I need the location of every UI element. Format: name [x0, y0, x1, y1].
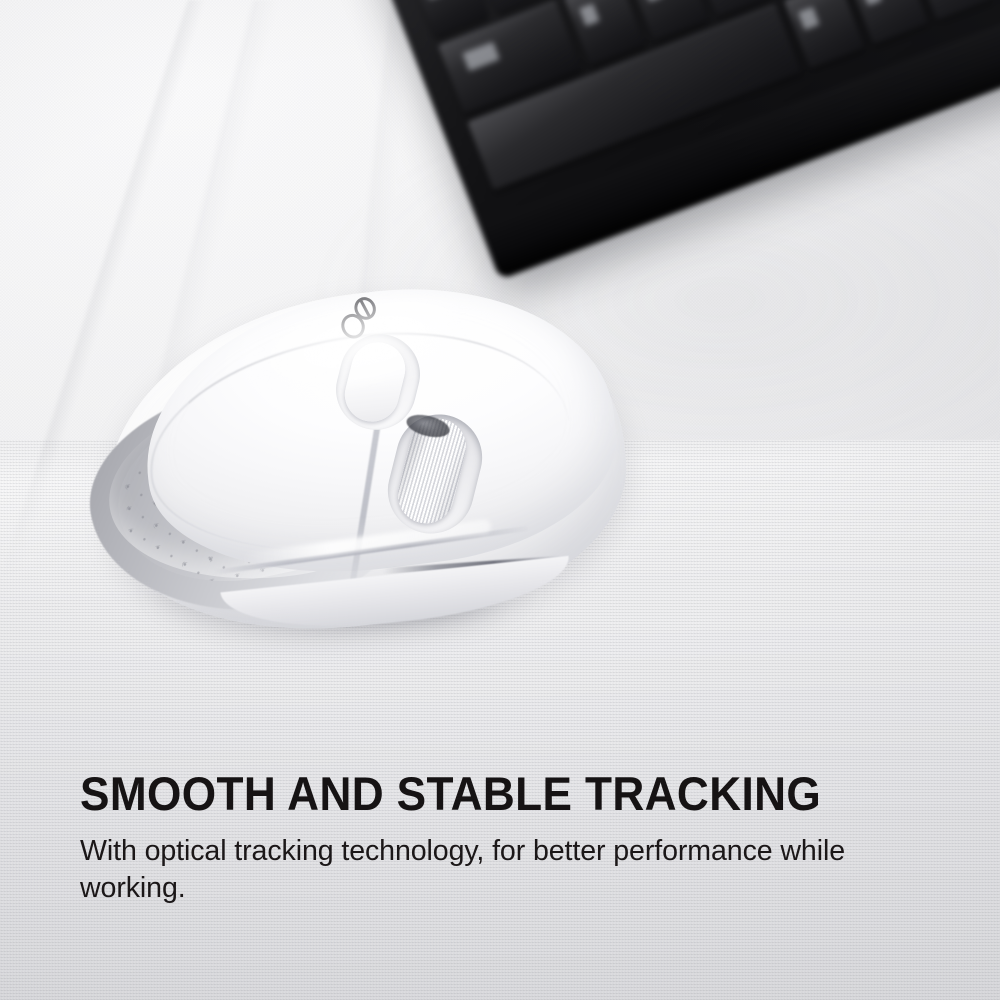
- caption-subtitle: With optical tracking technology, for be…: [80, 833, 947, 907]
- product-banner: SMOOTH AND STABLE TRACKING With optical …: [0, 0, 1000, 1000]
- caption-heading: SMOOTH AND STABLE TRACKING: [80, 770, 907, 819]
- caption-block: SMOOTH AND STABLE TRACKING With optical …: [80, 770, 960, 907]
